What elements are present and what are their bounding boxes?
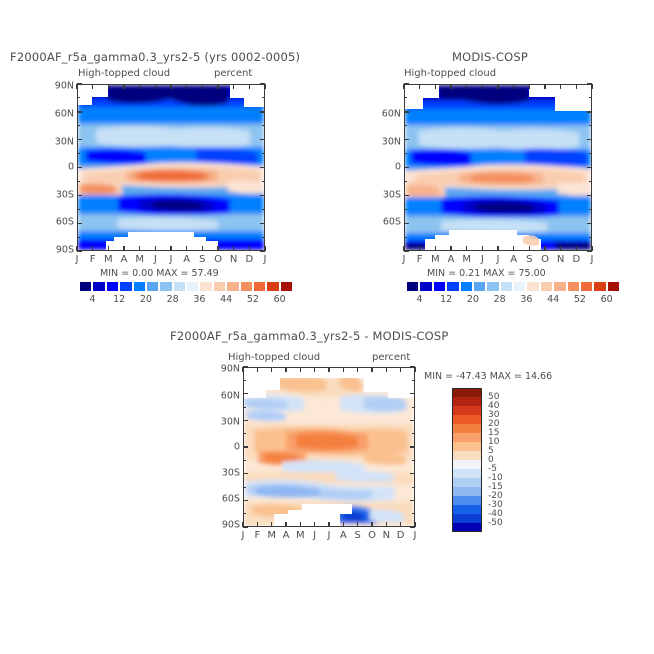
xaxis-tick (544, 84, 545, 89)
xaxis-tick (371, 522, 372, 527)
colorbar-swatch[interactable] (419, 281, 432, 292)
xaxis-tick (217, 246, 218, 251)
ylabel-90s-model: 90S (46, 245, 74, 256)
xaxis-tick (170, 246, 171, 251)
colorbar-swatch[interactable] (253, 281, 266, 292)
xaxis-month-label: A (510, 254, 517, 265)
yaxis-minor-tick (262, 167, 265, 168)
xaxis-tick (155, 84, 156, 89)
xaxis-tick (576, 84, 577, 89)
colorbar-swatch[interactable] (446, 281, 459, 292)
colorbar-swatch[interactable] (460, 281, 473, 292)
colorbar-swatch[interactable] (452, 523, 482, 532)
colorbar-swatch[interactable] (406, 281, 419, 292)
yaxis-minor-tick (262, 223, 265, 224)
xaxis-month-label: S (526, 254, 532, 265)
colorbar-swatch[interactable] (199, 281, 212, 292)
colorbar-swatch[interactable] (452, 469, 482, 478)
xaxis-tick (357, 367, 358, 372)
xaxis-tick (328, 367, 329, 372)
yaxis-minor-tick (404, 195, 407, 196)
yaxis-minor-tick (404, 97, 407, 98)
ylabel-30s-model: 30S (46, 190, 74, 201)
xaxis-month-label: S (199, 254, 205, 265)
xaxis-tick (257, 367, 258, 372)
colorbar-swatch[interactable] (486, 281, 499, 292)
yaxis-minor-tick (243, 513, 246, 514)
colorbar-tick-label: 4 (416, 294, 422, 305)
colorbar-tick-label: 20 (467, 294, 479, 305)
colorbar-swatch[interactable] (452, 415, 482, 424)
xaxis-tick (271, 522, 272, 527)
colorbar-swatch[interactable] (452, 442, 482, 451)
xaxis-tick (513, 246, 514, 251)
ylabel-60s-difference: 60S (212, 494, 240, 505)
yaxis-minor-tick (589, 181, 592, 182)
xaxis-tick (249, 246, 250, 251)
ylabel-30s-obs: 30S (373, 190, 401, 201)
colorbar-swatch[interactable] (607, 281, 620, 292)
colorbar-swatch[interactable] (473, 281, 486, 292)
yaxis-minor-tick (262, 237, 265, 238)
colorbar-tick-label: 44 (220, 294, 232, 305)
yaxis-minor-tick (404, 237, 407, 238)
colorbar-swatch[interactable] (226, 281, 239, 292)
yaxis-minor-tick (77, 223, 80, 224)
colorbar-horizontal-model[interactable] (79, 281, 293, 292)
ylabel-60n-obs: 60N (373, 109, 401, 120)
xaxis-month-label: D (245, 254, 253, 265)
colorbar-swatch[interactable] (159, 281, 172, 292)
colorbar-tick-label: -50 (488, 518, 503, 528)
colorbar-swatch[interactable] (240, 281, 253, 292)
xaxis-tick (108, 84, 109, 89)
yaxis-minor-tick (404, 251, 407, 252)
xaxis-tick (591, 84, 592, 89)
colorbar-swatch[interactable] (526, 281, 539, 292)
yaxis-minor-tick (243, 407, 246, 408)
xaxis-tick (403, 84, 404, 89)
yaxis-minor-tick (77, 167, 80, 168)
contour-field-difference (244, 368, 414, 526)
yaxis-minor-tick (243, 487, 246, 488)
colorbar-swatch[interactable] (433, 281, 446, 292)
xaxis-tick (186, 246, 187, 251)
yaxis-minor-tick (77, 209, 80, 210)
xaxis-month-label: J (313, 530, 316, 541)
colorbar-swatch[interactable] (173, 281, 186, 292)
yaxis-minor-tick (404, 181, 407, 182)
yaxis-minor-tick (589, 111, 592, 112)
yaxis-minor-tick (412, 380, 415, 381)
xaxis-month-label: J (591, 254, 594, 265)
colorbar-swatch[interactable] (580, 281, 593, 292)
xaxis-tick (92, 246, 93, 251)
xaxis-month-label: J (414, 530, 417, 541)
yaxis-minor-tick (404, 84, 407, 85)
xaxis-month-label: O (541, 254, 549, 265)
xaxis-month-label: A (283, 530, 290, 541)
plot-area-model[interactable] (77, 84, 265, 251)
xaxis-tick (450, 246, 451, 251)
yaxis-minor-tick (262, 111, 265, 112)
xaxis-month-label: M (462, 254, 471, 265)
yaxis-minor-tick (412, 487, 415, 488)
yaxis-minor-tick (77, 237, 80, 238)
xaxis-tick (419, 84, 420, 89)
xaxis-month-label: A (340, 530, 347, 541)
ylabel-60n-difference: 60N (212, 391, 240, 402)
panel-model-var-label: High-topped cloud (78, 68, 170, 79)
xaxis-month-label: A (121, 254, 128, 265)
xaxis-tick (435, 246, 436, 251)
xaxis-tick (233, 246, 234, 251)
colorbar-swatch[interactable] (79, 281, 92, 292)
yaxis-minor-tick (404, 125, 407, 126)
yaxis-minor-tick (412, 500, 415, 501)
ylabel-60s-obs: 60S (373, 217, 401, 228)
xaxis-month-label: N (557, 254, 564, 265)
panel-obs-title: MODIS-COSP (452, 50, 528, 64)
yaxis-minor-tick (412, 447, 415, 448)
colorbar-swatch[interactable] (500, 281, 513, 292)
panel-obs-var-label: High-topped cloud (404, 68, 496, 79)
xaxis-month-label: A (183, 254, 190, 265)
yaxis-minor-tick (243, 500, 246, 501)
colorbar-tick-label: 20 (140, 294, 152, 305)
xaxis-tick (400, 522, 401, 527)
xaxis-tick (450, 84, 451, 89)
yaxis-minor-tick (412, 367, 415, 368)
xaxis-tick (202, 84, 203, 89)
xaxis-tick (576, 246, 577, 251)
yaxis-minor-tick (412, 513, 415, 514)
xaxis-tick (186, 84, 187, 89)
yaxis-minor-tick (262, 153, 265, 154)
ylabel-60s-model: 60S (46, 217, 74, 228)
yaxis-minor-tick (412, 407, 415, 408)
xaxis-month-label: D (572, 254, 580, 265)
ylabel-90n-model: 90N (46, 81, 74, 92)
colorbar-swatch[interactable] (553, 281, 566, 292)
ylabel-0-model: 0 (46, 162, 74, 173)
yaxis-minor-tick (262, 251, 265, 252)
xaxis-tick (300, 522, 301, 527)
yaxis-minor-tick (589, 167, 592, 168)
yaxis-minor-tick (262, 195, 265, 196)
ylabel-60n-model: 60N (46, 109, 74, 120)
xaxis-tick (233, 84, 234, 89)
xaxis-tick (271, 367, 272, 372)
xaxis-tick (92, 84, 93, 89)
xaxis-month-label: J (497, 254, 500, 265)
xaxis-tick (285, 367, 286, 372)
colorbar-tick-label: 28 (167, 294, 179, 305)
xaxis-month-label: A (448, 254, 455, 265)
colorbar-tick-label: 60 (274, 294, 286, 305)
colorbar-swatch[interactable] (452, 388, 482, 397)
yaxis-minor-tick (77, 181, 80, 182)
panel-difference-unit-label: percent (372, 352, 410, 363)
xaxis-tick (76, 84, 77, 89)
xaxis-tick (544, 246, 545, 251)
yaxis-minor-tick (412, 393, 415, 394)
xaxis-month-label: S (354, 530, 360, 541)
panel-model-unit-label: percent (214, 68, 252, 79)
xaxis-tick (466, 246, 467, 251)
xaxis-month-label: J (403, 254, 406, 265)
xaxis-tick (257, 522, 258, 527)
plot-area-difference[interactable] (243, 367, 415, 527)
colorbar-swatch[interactable] (280, 281, 293, 292)
yaxis-minor-tick (77, 84, 80, 85)
xaxis-tick (139, 84, 140, 89)
yaxis-minor-tick (404, 223, 407, 224)
xaxis-month-label: M (267, 530, 276, 541)
minmax-text-difference: MIN = -47.43 MAX = 14.66 (424, 371, 552, 382)
yaxis-minor-tick (77, 153, 80, 154)
colorbar-swatch[interactable] (452, 460, 482, 469)
xaxis-tick (264, 84, 265, 89)
xaxis-tick (300, 367, 301, 372)
xaxis-tick (466, 84, 467, 89)
yaxis-minor-tick (243, 447, 246, 448)
colorbar-swatch[interactable] (133, 281, 146, 292)
yaxis-minor-tick (404, 209, 407, 210)
panel-difference-title: F2000AF_r5a_gamma0.3_yrs2-5 - MODIS-COSP (170, 329, 449, 343)
yaxis-minor-tick (262, 181, 265, 182)
colorbar-swatch[interactable] (452, 433, 482, 442)
yaxis-minor-tick (589, 125, 592, 126)
yaxis-minor-tick (243, 473, 246, 474)
yaxis-minor-tick (77, 251, 80, 252)
xaxis-tick (314, 367, 315, 372)
colorbar-swatch[interactable] (452, 424, 482, 433)
xaxis-month-label: J (154, 254, 157, 265)
colorbar-swatch[interactable] (452, 478, 482, 487)
ylabel-30n-obs: 30N (373, 137, 401, 148)
xaxis-tick (343, 367, 344, 372)
xaxis-tick (529, 84, 530, 89)
colorbar-swatch[interactable] (513, 281, 526, 292)
xaxis-tick (414, 367, 415, 372)
colorbar-swatch[interactable] (92, 281, 105, 292)
colorbar-swatch[interactable] (452, 505, 482, 514)
xaxis-tick (170, 84, 171, 89)
xaxis-tick (343, 522, 344, 527)
yaxis-minor-tick (77, 125, 80, 126)
xaxis-month-label: F (417, 254, 423, 265)
colorbar-swatch[interactable] (186, 281, 199, 292)
yaxis-minor-tick (262, 125, 265, 126)
xaxis-month-label: J (328, 530, 331, 541)
colorbar-tick-label: 4 (89, 294, 95, 305)
xaxis-tick (560, 246, 561, 251)
xaxis-tick (529, 246, 530, 251)
xaxis-tick (497, 84, 498, 89)
yaxis-minor-tick (243, 433, 246, 434)
colorbar-tick-label: 36 (193, 294, 205, 305)
xaxis-tick (123, 246, 124, 251)
colorbar-tick-label: 52 (574, 294, 586, 305)
xaxis-tick (217, 84, 218, 89)
yaxis-minor-tick (589, 97, 592, 98)
yaxis-minor-tick (404, 111, 407, 112)
xaxis-tick (314, 522, 315, 527)
colorbar-tick-label: 52 (247, 294, 259, 305)
panel-model-title: F2000AF_r5a_gamma0.3_yrs2-5 (yrs 0002-00… (10, 50, 300, 64)
xaxis-tick (400, 367, 401, 372)
xaxis-tick (328, 522, 329, 527)
colorbar-swatch[interactable] (119, 281, 132, 292)
xaxis-month-label: N (230, 254, 237, 265)
yaxis-minor-tick (77, 139, 80, 140)
ylabel-30n-model: 30N (46, 137, 74, 148)
xaxis-month-label: O (214, 254, 222, 265)
xaxis-tick (386, 367, 387, 372)
xaxis-tick (371, 367, 372, 372)
xaxis-tick (155, 246, 156, 251)
ylabel-0-difference: 0 (212, 442, 240, 453)
xaxis-tick (482, 246, 483, 251)
yaxis-minor-tick (77, 111, 80, 112)
colorbar-swatch[interactable] (106, 281, 119, 292)
yaxis-minor-tick (412, 420, 415, 421)
yaxis-minor-tick (404, 153, 407, 154)
xaxis-month-label: J (170, 254, 173, 265)
ylabel-90n-difference: 90N (212, 364, 240, 375)
xaxis-tick (108, 246, 109, 251)
colorbar-swatch[interactable] (540, 281, 553, 292)
colorbar-labels-obs: 412202836445260 (406, 294, 620, 306)
xaxis-month-label: J (76, 254, 79, 265)
yaxis-minor-tick (243, 393, 246, 394)
colorbar-swatch[interactable] (213, 281, 226, 292)
xaxis-tick (242, 367, 243, 372)
colorbar-swatch[interactable] (452, 397, 482, 406)
colorbar-horizontal-obs[interactable] (406, 281, 620, 292)
yaxis-minor-tick (262, 97, 265, 98)
colorbar-vertical-difference[interactable] (452, 388, 482, 532)
xaxis-month-label: F (90, 254, 96, 265)
yaxis-minor-tick (262, 84, 265, 85)
xaxis-tick (357, 522, 358, 527)
xaxis-tick (139, 246, 140, 251)
colorbar-labels-model: 412202836445260 (79, 294, 293, 306)
xaxis-month-label: M (431, 254, 440, 265)
yaxis-minor-tick (77, 97, 80, 98)
colorbar-swatch[interactable] (452, 514, 482, 523)
yaxis-minor-tick (412, 460, 415, 461)
yaxis-minor-tick (404, 139, 407, 140)
yaxis-minor-tick (589, 209, 592, 210)
xaxis-tick (386, 522, 387, 527)
xaxis-month-label: F (254, 530, 260, 541)
xaxis-month-label: N (383, 530, 390, 541)
xaxis-month-label: J (481, 254, 484, 265)
colorbar-tick-label: 60 (601, 294, 613, 305)
yaxis-minor-tick (412, 433, 415, 434)
yaxis-minor-tick (412, 527, 415, 528)
colorbar-swatch[interactable] (593, 281, 606, 292)
colorbar-tick-label: 36 (520, 294, 532, 305)
yaxis-minor-tick (77, 195, 80, 196)
yaxis-minor-tick (243, 367, 246, 368)
ylabel-30s-difference: 30S (212, 468, 240, 479)
xaxis-tick (123, 84, 124, 89)
colorbar-swatch[interactable] (567, 281, 580, 292)
xaxis-month-label: M (135, 254, 144, 265)
ylabel-0-obs: 0 (373, 162, 401, 173)
colorbar-tick-label: 12 (440, 294, 452, 305)
colorbar-swatch[interactable] (146, 281, 159, 292)
xaxis-tick (435, 84, 436, 89)
ylabel-30n-difference: 30N (212, 417, 240, 428)
xaxis-tick (513, 84, 514, 89)
yaxis-minor-tick (262, 139, 265, 140)
colorbar-swatch[interactable] (452, 451, 482, 460)
yaxis-minor-tick (589, 251, 592, 252)
xaxis-month-label: D (397, 530, 405, 541)
yaxis-minor-tick (589, 237, 592, 238)
colorbar-swatch[interactable] (452, 487, 482, 496)
yaxis-minor-tick (243, 420, 246, 421)
xaxis-tick (249, 84, 250, 89)
minmax-text-obs: MIN = 0.21 MAX = 75.00 (427, 268, 546, 279)
minmax-text-model: MIN = 0.00 MAX = 57.49 (100, 268, 219, 279)
yaxis-minor-tick (404, 167, 407, 168)
yaxis-minor-tick (243, 460, 246, 461)
yaxis-minor-tick (589, 139, 592, 140)
xaxis-month-label: M (296, 530, 305, 541)
colorbar-swatch[interactable] (266, 281, 279, 292)
colorbar-tick-label: 12 (113, 294, 125, 305)
yaxis-minor-tick (412, 473, 415, 474)
yaxis-minor-tick (589, 195, 592, 196)
yaxis-minor-tick (589, 223, 592, 224)
panel-difference-var-label: High-topped cloud (228, 352, 320, 363)
colorbar-swatch[interactable] (452, 406, 482, 415)
xaxis-tick (560, 84, 561, 89)
xaxis-month-label: J (242, 530, 245, 541)
xaxis-tick (497, 246, 498, 251)
xaxis-month-label: O (368, 530, 376, 541)
xaxis-tick (482, 84, 483, 89)
yaxis-minor-tick (589, 153, 592, 154)
colorbar-swatch[interactable] (452, 496, 482, 505)
yaxis-minor-tick (262, 209, 265, 210)
yaxis-minor-tick (243, 527, 246, 528)
contour-field-obs (405, 85, 591, 250)
contour-field-model (78, 85, 264, 250)
ylabel-90s-difference: 90S (212, 520, 240, 531)
plot-area-obs[interactable] (404, 84, 592, 251)
yaxis-minor-tick (589, 84, 592, 85)
xaxis-tick (202, 246, 203, 251)
xaxis-month-label: J (264, 254, 267, 265)
xaxis-tick (419, 246, 420, 251)
colorbar-tick-label: 28 (494, 294, 506, 305)
xaxis-month-label: M (104, 254, 113, 265)
yaxis-minor-tick (243, 380, 246, 381)
xaxis-tick (285, 522, 286, 527)
colorbar-tick-label: 44 (547, 294, 559, 305)
